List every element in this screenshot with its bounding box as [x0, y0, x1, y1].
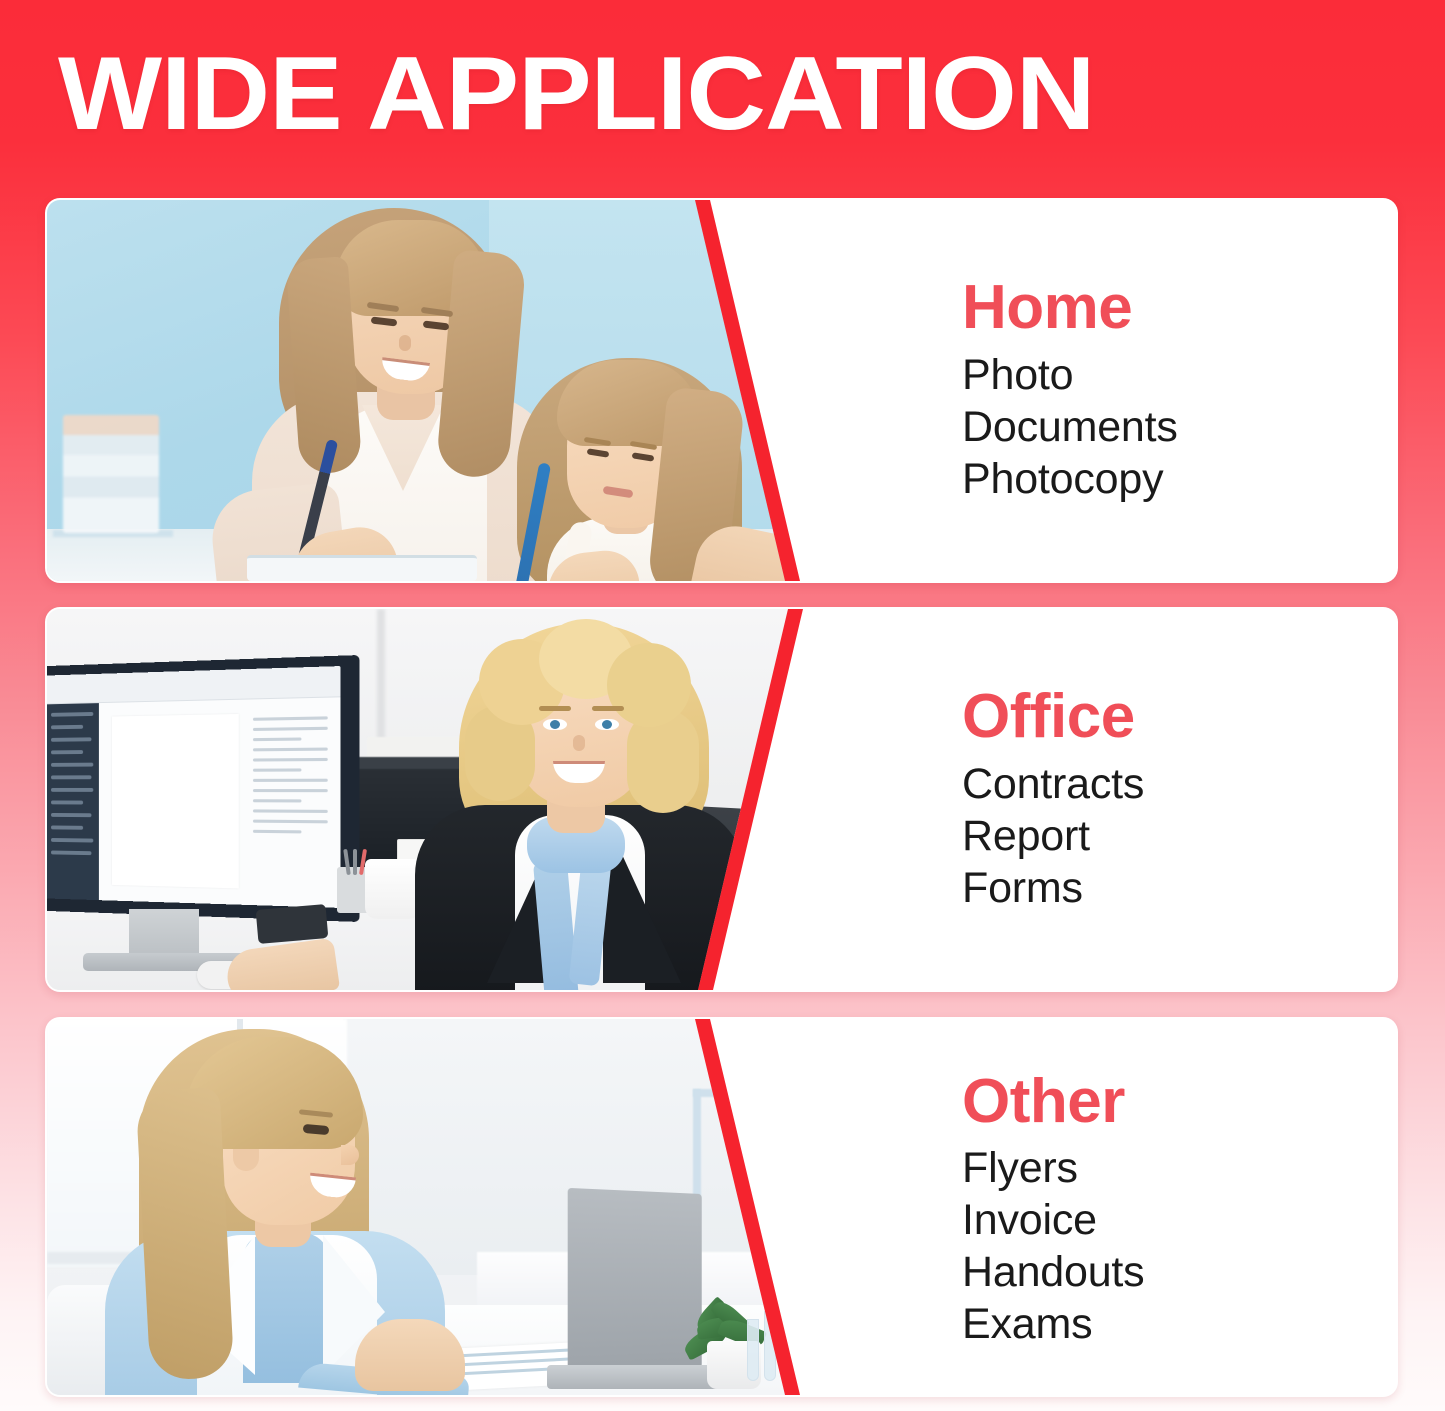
businesswoman-nose: [573, 735, 585, 751]
list-item: Contracts: [962, 758, 1366, 810]
card-text-home: Home Photo Documents Photocopy: [962, 200, 1396, 581]
smartphone: [256, 904, 329, 944]
list-item: Exams: [962, 1298, 1366, 1350]
coffee-mug: [365, 859, 421, 919]
monitor-screen: [47, 666, 341, 908]
laptop-base: [547, 1365, 727, 1389]
laptop-screen: [568, 1188, 702, 1374]
card-title-home: Home: [962, 276, 1366, 340]
lab-woman-hair-side: [135, 1087, 234, 1381]
card-item-list-other: Flyers Invoice Handouts Exams: [962, 1142, 1366, 1350]
card-text-other: Other Flyers Invoice Handouts Exams: [962, 1019, 1396, 1395]
wide-application-infographic: WIDE APPLICATION: [0, 0, 1445, 1411]
document-preview: [112, 714, 239, 888]
businesswoman-eyebrow-right: [592, 706, 624, 711]
document-text-lines: [253, 716, 328, 841]
card-item-list-home: Photo Documents Photocopy: [962, 349, 1366, 505]
monitor-stand: [129, 909, 199, 957]
list-item: Photocopy: [962, 453, 1366, 505]
businesswoman-eye-left: [543, 719, 567, 730]
lab-woman-blouse: [243, 1233, 329, 1383]
woman-nose: [399, 335, 411, 351]
businesswoman-eye-right: [595, 719, 619, 730]
list-item: Forms: [962, 862, 1366, 914]
hair-curl: [607, 643, 691, 727]
books-stack: [63, 415, 159, 533]
lab-woman-hands: [355, 1319, 465, 1391]
businesswoman-eyebrow-left: [539, 706, 571, 711]
list-item: Invoice: [962, 1194, 1366, 1246]
card-item-list-office: Contracts Report Forms: [962, 758, 1366, 914]
list-item: Photo: [962, 349, 1366, 401]
notepad: [247, 555, 477, 581]
list-item: Report: [962, 810, 1366, 862]
application-card-other: Other Flyers Invoice Handouts Exams: [45, 1017, 1398, 1397]
application-card-home: Home Photo Documents Photocopy: [45, 198, 1398, 583]
list-item: Flyers: [962, 1142, 1366, 1194]
page-title: WIDE APPLICATION: [58, 40, 1288, 148]
card-title-other: Other: [962, 1070, 1366, 1134]
app-sidebar: [47, 703, 99, 900]
list-item: Handouts: [962, 1246, 1366, 1298]
application-card-office: Office Contracts Report Forms: [45, 607, 1398, 992]
card-text-office: Office Contracts Report Forms: [962, 609, 1396, 990]
list-item: Documents: [962, 401, 1366, 453]
card-title-office: Office: [962, 685, 1366, 749]
